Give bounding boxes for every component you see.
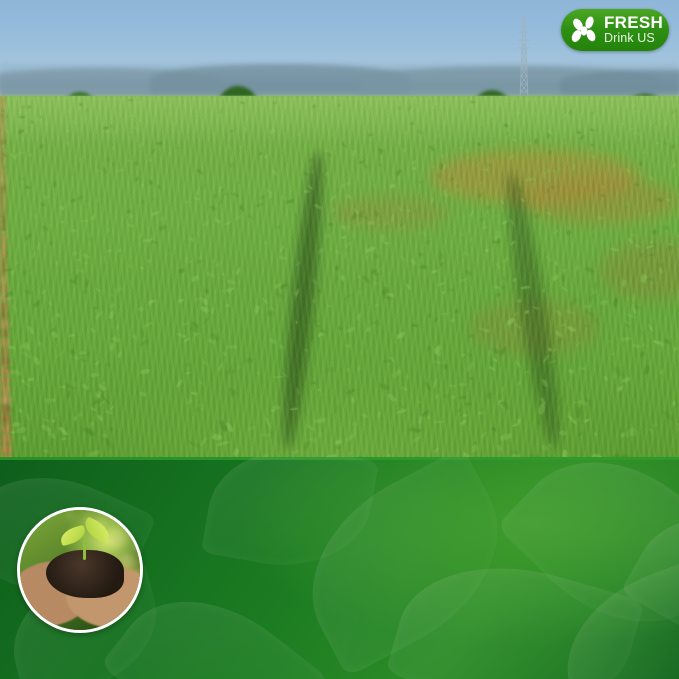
leaf-fleck: [65, 141, 69, 147]
leaf-fleck: [327, 305, 332, 308]
leaf-fleck: [81, 220, 89, 222]
leaf-fleck: [16, 119, 20, 123]
leaf-fleck: [626, 314, 636, 320]
leaf-fleck: [1, 287, 6, 293]
leaf-fleck: [342, 251, 347, 259]
leaf-fleck: [236, 366, 242, 370]
leaf-fleck: [673, 346, 678, 351]
leaf-fleck: [315, 323, 320, 328]
leaf-fleck: [460, 278, 468, 281]
leaf-fleck: [86, 203, 90, 206]
leaf-fleck: [481, 166, 488, 171]
leaf-fleck: [390, 184, 396, 188]
leaf-fleck: [357, 221, 363, 227]
leaf-fleck: [49, 302, 52, 306]
leaf-fleck: [533, 306, 539, 311]
leaf-fleck: [547, 347, 551, 352]
leaf-fleck: [203, 318, 210, 326]
leaf-fleck: [240, 101, 246, 105]
leaf-fleck: [579, 134, 585, 140]
leaf-fleck: [325, 101, 329, 107]
leaf-fleck: [70, 228, 76, 233]
leaf-fleck: [197, 260, 202, 264]
leaf-fleck: [303, 190, 309, 194]
leaf-fleck: [510, 219, 514, 225]
leaf-fleck: [312, 103, 317, 108]
leaf-fleck: [459, 396, 466, 399]
leaf-fleck: [313, 320, 319, 324]
leaf-fleck: [584, 418, 591, 423]
leaf-fleck: [611, 374, 616, 380]
leaf-fleck: [137, 119, 141, 123]
leaf-fleck: [525, 310, 530, 315]
leaf-fleck: [434, 101, 439, 107]
leaf-fleck: [324, 148, 331, 152]
leaf-fleck: [286, 200, 294, 204]
leaf-fleck: [625, 201, 629, 205]
leaf-fleck: [226, 344, 237, 349]
leaf-fleck: [377, 411, 383, 418]
leaf-fleck: [652, 229, 658, 236]
bokeh-light: [106, 528, 126, 548]
leaf-fleck: [116, 169, 122, 173]
leaf-fleck: [466, 354, 471, 358]
leaf-fleck: [459, 382, 467, 386]
leaf-fleck: [48, 430, 57, 440]
leaf-fleck: [128, 264, 133, 269]
leaf-fleck: [112, 335, 121, 344]
leaf-fleck: [490, 112, 493, 117]
leaf-fleck: [336, 446, 342, 449]
leaf-fleck: [504, 132, 509, 136]
leaf-fleck: [275, 290, 283, 299]
leaf-fleck: [55, 351, 64, 358]
leaf-fleck: [309, 335, 315, 341]
leaf-fleck: [229, 162, 234, 168]
leaf-fleck: [221, 272, 226, 277]
leaf-fleck: [585, 305, 592, 309]
leaf-fleck: [489, 366, 496, 372]
leaf-fleck: [141, 328, 145, 337]
leaf-fleck: [517, 298, 522, 303]
leaf-fleck: [659, 268, 664, 274]
leaf-fleck: [31, 120, 34, 124]
leaf-fleck: [295, 368, 303, 378]
leaf-fleck: [551, 274, 559, 281]
leaf-fleck: [630, 232, 639, 238]
leaf-fleck: [175, 146, 180, 149]
leaf-fleck: [315, 418, 327, 423]
leaf-cluster-icon: [567, 12, 603, 48]
leaf-fleck: [9, 328, 13, 331]
leaf-fleck: [548, 150, 553, 155]
leaf-fleck: [202, 183, 208, 189]
leaf-fleck: [346, 327, 356, 333]
leaf-fleck: [601, 185, 607, 189]
leaf-fleck: [202, 221, 209, 226]
leaf-fleck: [330, 194, 338, 200]
leaf-fleck: [137, 305, 145, 312]
leaf-fleck: [405, 375, 410, 380]
leaf-fleck: [506, 222, 509, 227]
leaf-fleck: [671, 162, 678, 168]
leaf-fleck: [398, 226, 406, 232]
leaf-fleck: [624, 144, 628, 150]
leaf-fleck: [499, 386, 505, 392]
leaf-fleck: [477, 181, 484, 184]
leaf-fleck: [437, 282, 445, 287]
leaf-fleck: [37, 243, 40, 251]
leaf-fleck: [334, 439, 342, 444]
leaf-fleck: [559, 428, 567, 436]
leaf-fleck: [597, 214, 603, 220]
leaf-fleck: [416, 108, 422, 113]
leaf-fleck: [280, 283, 289, 289]
leaf-fleck: [84, 262, 89, 264]
leaf-fleck: [390, 104, 395, 109]
leaf-fleck: [185, 372, 191, 375]
leaf-fleck: [106, 228, 111, 233]
leaf-fleck: [586, 309, 595, 317]
leaf-fleck: [77, 412, 84, 417]
leaf-fleck: [515, 360, 520, 368]
leaf-fleck: [384, 221, 390, 226]
leaf-fleck: [410, 122, 414, 125]
leaf-fleck: [48, 240, 54, 246]
leaf-fleck: [535, 420, 541, 427]
leaf-fleck: [209, 205, 216, 212]
field-photo: FRESH Drink US: [0, 0, 679, 457]
leaf-fleck: [433, 360, 442, 364]
leaf-fleck: [156, 142, 162, 146]
leaf-fleck: [44, 294, 48, 304]
leaf-fleck: [465, 149, 469, 155]
brand-logo[interactable]: FRESH Drink US: [561, 9, 669, 51]
leaf-fleck: [397, 205, 402, 211]
leaf-fleck: [430, 269, 438, 274]
leaf-fleck: [89, 215, 96, 221]
leaf-fleck: [189, 440, 195, 446]
leaf-fleck: [90, 406, 96, 411]
leaf-fleck: [477, 132, 480, 138]
leaf-fleck: [461, 232, 466, 237]
leaf-fleck: [434, 317, 439, 322]
leaf-fleck: [425, 345, 432, 352]
leaf-fleck: [21, 435, 28, 442]
leaf-fleck: [648, 254, 656, 256]
leaf-fleck: [535, 112, 538, 118]
leaf-fleck: [5, 128, 10, 134]
leaf-fleck: [434, 421, 445, 423]
leaf-fleck: [448, 289, 455, 292]
leaf-fleck: [177, 333, 186, 340]
leaf-fleck: [334, 265, 339, 270]
leaf-fleck: [534, 214, 540, 219]
leaf-fleck: [479, 124, 483, 127]
leaf-fleck: [565, 230, 571, 236]
leaf-fleck: [648, 324, 654, 332]
leaf-fleck: [593, 431, 598, 436]
leaf-fleck: [569, 368, 575, 374]
leaf-fleck: [140, 391, 147, 398]
leaf-fleck: [658, 369, 664, 374]
leaf-fleck: [31, 251, 36, 258]
leaf-fleck: [377, 163, 381, 167]
leaf-fleck: [273, 101, 277, 105]
leaf-fleck: [28, 271, 33, 275]
leaf-fleck: [66, 128, 70, 132]
leaf-fleck: [43, 448, 50, 453]
leaf-fleck: [607, 340, 611, 343]
leaf-fleck: [89, 237, 92, 241]
leaf-fleck: [26, 185, 31, 190]
leaf-fleck: [561, 286, 569, 293]
leaf-fleck: [412, 106, 415, 109]
leaf-fleck: [356, 312, 362, 321]
leaf-fleck: [639, 161, 644, 166]
leaf-fleck: [97, 414, 103, 422]
leaf-fleck: [390, 215, 395, 223]
leaf-fleck: [2, 152, 7, 158]
leaf-fleck: [213, 218, 220, 225]
leaf-fleck: [399, 254, 405, 261]
leaf-fleck: [556, 337, 564, 343]
leaf-fleck: [87, 387, 93, 392]
leaf-fleck: [66, 391, 72, 399]
leaf-fleck: [268, 336, 278, 345]
leaf-fleck: [492, 141, 496, 147]
leaf-fleck: [303, 171, 309, 176]
leaf-fleck: [534, 138, 539, 144]
leaf-fleck: [75, 259, 80, 262]
leaf-fleck: [338, 103, 341, 107]
leaf-fleck: [496, 293, 501, 298]
leaf-fleck: [115, 286, 124, 292]
leaf-fleck: [586, 266, 594, 274]
leaf-fleck: [56, 312, 61, 318]
leaf-fleck: [143, 322, 154, 329]
leaf-fleck: [395, 331, 405, 339]
leaf-fleck: [656, 197, 663, 203]
leaf-fleck: [431, 116, 435, 120]
leaf-fleck: [495, 262, 501, 270]
leaf-fleck: [39, 144, 44, 149]
leaf-fleck: [248, 215, 253, 220]
leaf-fleck: [343, 241, 352, 249]
leaf-fleck: [470, 333, 475, 338]
leaf-fleck: [344, 181, 350, 184]
leaf-fleck: [109, 293, 113, 297]
leaf-fleck: [526, 177, 533, 180]
leaf-fleck: [279, 344, 284, 350]
leaf-fleck: [331, 207, 335, 212]
leaf-fleck: [617, 386, 624, 392]
leaf-fleck: [469, 237, 474, 242]
leaf-fleck: [469, 377, 473, 380]
leaf-fleck: [640, 329, 645, 334]
leaf-fleck: [583, 324, 588, 327]
leaf-fleck: [568, 110, 573, 115]
leaf-fleck: [432, 378, 440, 389]
leaf-fleck: [292, 450, 300, 455]
leaf-fleck: [189, 236, 195, 242]
leaf-fleck: [111, 147, 116, 153]
leaf-fleck: [64, 108, 70, 113]
leaf-fleck: [235, 215, 242, 220]
leaf-fleck: [464, 252, 469, 257]
leaf-fleck: [326, 152, 332, 157]
leaf-fleck: [191, 390, 198, 396]
leaf-fleck: [178, 268, 185, 273]
leaf-fleck: [456, 187, 461, 192]
leaf-fleck: [228, 387, 232, 392]
leaf-fleck: [149, 159, 152, 163]
leaf-fleck: [374, 304, 379, 307]
leaf-fleck: [425, 241, 430, 245]
leaf-fleck: [525, 97, 530, 102]
leaf-fleck: [395, 408, 406, 414]
leaf-fleck: [297, 133, 300, 137]
leaf-fleck: [460, 352, 466, 358]
leaf-fleck: [666, 197, 672, 202]
leaf-fleck: [506, 98, 510, 104]
logo-line-1: FRESH: [604, 15, 663, 31]
leaf-fleck: [74, 127, 80, 131]
leaf-fleck: [345, 434, 354, 442]
leaf-fleck: [256, 203, 263, 208]
leaf-fleck: [278, 254, 287, 261]
leaf-fleck: [467, 229, 471, 233]
leaf-fleck: [373, 183, 377, 187]
leaf-fleck: [429, 166, 436, 169]
leaf-fleck: [21, 177, 25, 179]
leaf-fleck: [290, 408, 298, 410]
leaf-fleck: [137, 101, 143, 104]
leaf-fleck: [356, 365, 363, 372]
leaf-fleck: [279, 245, 285, 253]
leaf-fleck: [61, 220, 66, 223]
leaf-fleck: [583, 180, 586, 185]
leaf-fleck: [590, 155, 596, 159]
leaf-fleck: [198, 380, 203, 385]
leaf-fleck: [470, 443, 479, 452]
leaf-fleck: [272, 168, 278, 176]
leaf-fleck: [294, 213, 298, 219]
leaf-fleck: [365, 104, 370, 110]
leaf-fleck: [29, 153, 33, 157]
leaf-fleck: [83, 117, 88, 123]
leaf-fleck: [230, 130, 233, 133]
leaf-fleck: [603, 376, 609, 382]
leaf-fleck: [553, 229, 559, 235]
leaf-fleck: [362, 340, 366, 344]
leaf-fleck: [485, 392, 493, 400]
leaf-fleck: [103, 255, 106, 264]
leaf-fleck: [629, 427, 637, 437]
leaf-fleck: [552, 348, 557, 352]
leaf-fleck: [0, 214, 5, 219]
leaf-fleck: [463, 414, 467, 418]
leaf-fleck: [648, 428, 654, 433]
leaf-fleck: [412, 166, 417, 170]
leaf-fleck: [328, 222, 333, 226]
leaf-fleck: [502, 257, 511, 265]
leaf-fleck: [402, 148, 406, 153]
leaf-fleck: [46, 197, 52, 199]
leaf-fleck: [428, 313, 432, 318]
leaf-fleck: [496, 101, 501, 103]
leaf-fleck: [2, 163, 7, 170]
leaf-fleck: [26, 412, 30, 421]
leaf-fleck: [642, 365, 650, 375]
leaf-fleck: [317, 389, 321, 392]
leaf-fleck: [74, 382, 79, 387]
leaf-fleck: [410, 159, 416, 164]
leaf-fleck: [545, 255, 552, 263]
leaf-fleck: [395, 103, 398, 106]
leaf-fleck: [541, 289, 545, 292]
leaf-fleck: [225, 304, 230, 307]
leaf-fleck: [158, 225, 165, 230]
leaf-fleck: [562, 268, 567, 273]
leaf-fleck: [77, 156, 82, 162]
leaf-fleck: [139, 266, 144, 271]
leaf-fleck: [109, 405, 114, 411]
leaf-fleck: [301, 438, 311, 450]
leaf-fleck: [200, 305, 209, 314]
leaf-fleck: [13, 153, 19, 160]
leaf-fleck: [68, 97, 73, 101]
leaf-fleck: [176, 380, 184, 389]
sprout-photo: [17, 507, 143, 633]
leaf-fleck: [592, 316, 599, 324]
leaf-fleck: [59, 426, 69, 437]
leaf-fleck: [133, 126, 139, 131]
leaf-fleck: [194, 297, 203, 301]
leaf-fleck: [589, 128, 596, 132]
leaf-fleck: [478, 412, 483, 415]
leaf-fleck: [266, 189, 269, 193]
leaf-fleck: [642, 149, 647, 154]
leaf-fleck: [424, 382, 431, 393]
leaf-fleck: [42, 417, 50, 422]
leaf-fleck: [503, 123, 508, 128]
leaf-fleck: [317, 288, 322, 293]
leaf-fleck: [69, 334, 75, 337]
leaf-fleck: [512, 311, 520, 317]
leaf-fleck: [654, 151, 659, 156]
leaf-fleck: [132, 334, 138, 341]
leaf-fleck: [138, 142, 143, 147]
leaf-fleck: [258, 151, 262, 155]
leaf-fleck: [264, 241, 269, 246]
leaf-fleck: [668, 242, 673, 245]
leaf-fleck: [326, 368, 336, 373]
leaf-fleck: [465, 362, 474, 373]
leaf-fleck: [314, 203, 322, 210]
leaf-fleck: [186, 363, 191, 367]
leaf-fleck: [389, 356, 394, 362]
leaf-fleck: [430, 145, 435, 152]
leaf-fleck: [61, 437, 67, 439]
leaf-fleck: [178, 298, 184, 304]
leaf-fleck: [107, 362, 112, 367]
leaf-fleck: [528, 141, 532, 145]
leaf-fleck: [455, 180, 460, 184]
leaf-fleck: [577, 130, 582, 135]
leaf-fleck: [224, 220, 232, 225]
leaf-fleck: [71, 199, 77, 203]
